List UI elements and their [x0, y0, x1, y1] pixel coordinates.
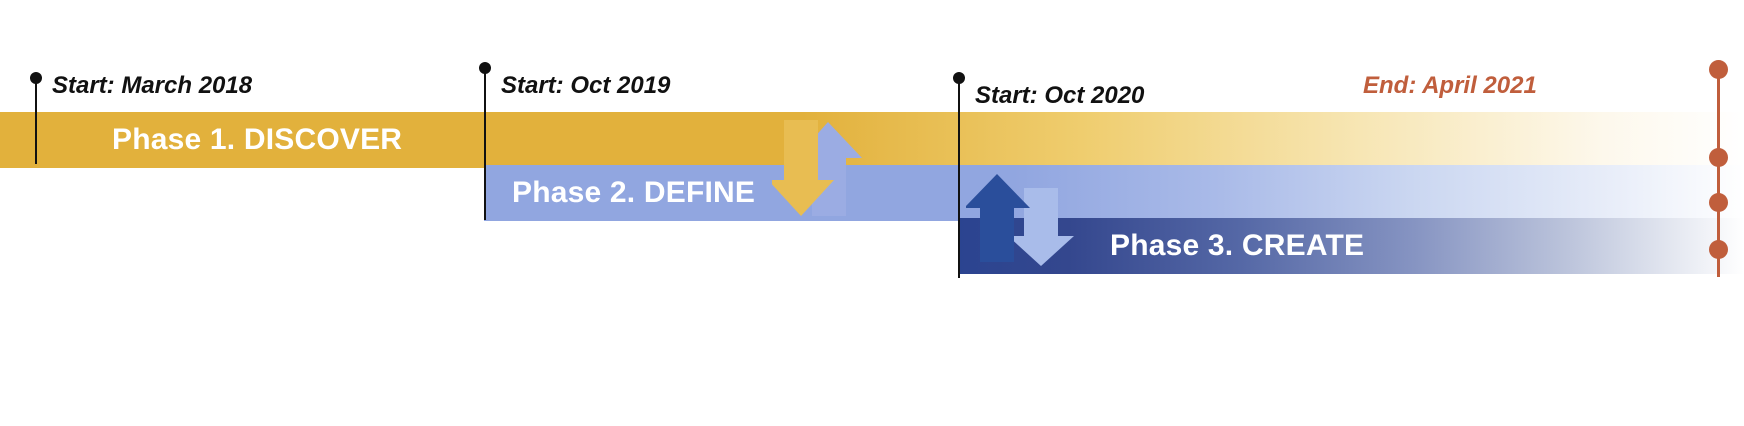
phase-bar-define[interactable]: Phase 2. DEFINE — [484, 165, 1744, 221]
end-marker-dot-icon-1 — [1709, 60, 1728, 79]
phase-3-label: Phase 3. CREATE — [1110, 229, 1364, 263]
milestone-line — [484, 68, 486, 220]
end-marker-dot-icon-4 — [1709, 240, 1728, 259]
milestone-2-label: Start: Oct 2019 — [501, 72, 670, 100]
milestone-line — [958, 78, 960, 278]
transition-arrows-discover-define — [772, 118, 864, 220]
milestone-dot-icon — [30, 72, 42, 84]
phase-1-label: Phase 1. DISCOVER — [112, 123, 402, 157]
end-marker-label: End: April 2021 — [1363, 72, 1537, 100]
milestone-dot-icon — [953, 72, 965, 84]
up-arrow-create-icon — [966, 174, 1030, 262]
phase-bar-discover[interactable]: Phase 1. DISCOVER — [0, 112, 1744, 168]
end-marker-dot-icon-3 — [1709, 193, 1728, 212]
end-marker-dot-icon-2 — [1709, 148, 1728, 167]
transition-arrows-define-create — [966, 174, 1076, 266]
milestone-line — [35, 78, 37, 164]
phase-2-label: Phase 2. DEFINE — [512, 176, 755, 210]
milestone-3-label: Start: Oct 2020 — [975, 82, 1144, 110]
milestone-1-label: Start: March 2018 — [52, 72, 252, 100]
timeline-diagram: Phase 1. DISCOVER Phase 2. DEFINE Phase … — [0, 0, 1744, 426]
milestone-dot-icon — [479, 62, 491, 74]
